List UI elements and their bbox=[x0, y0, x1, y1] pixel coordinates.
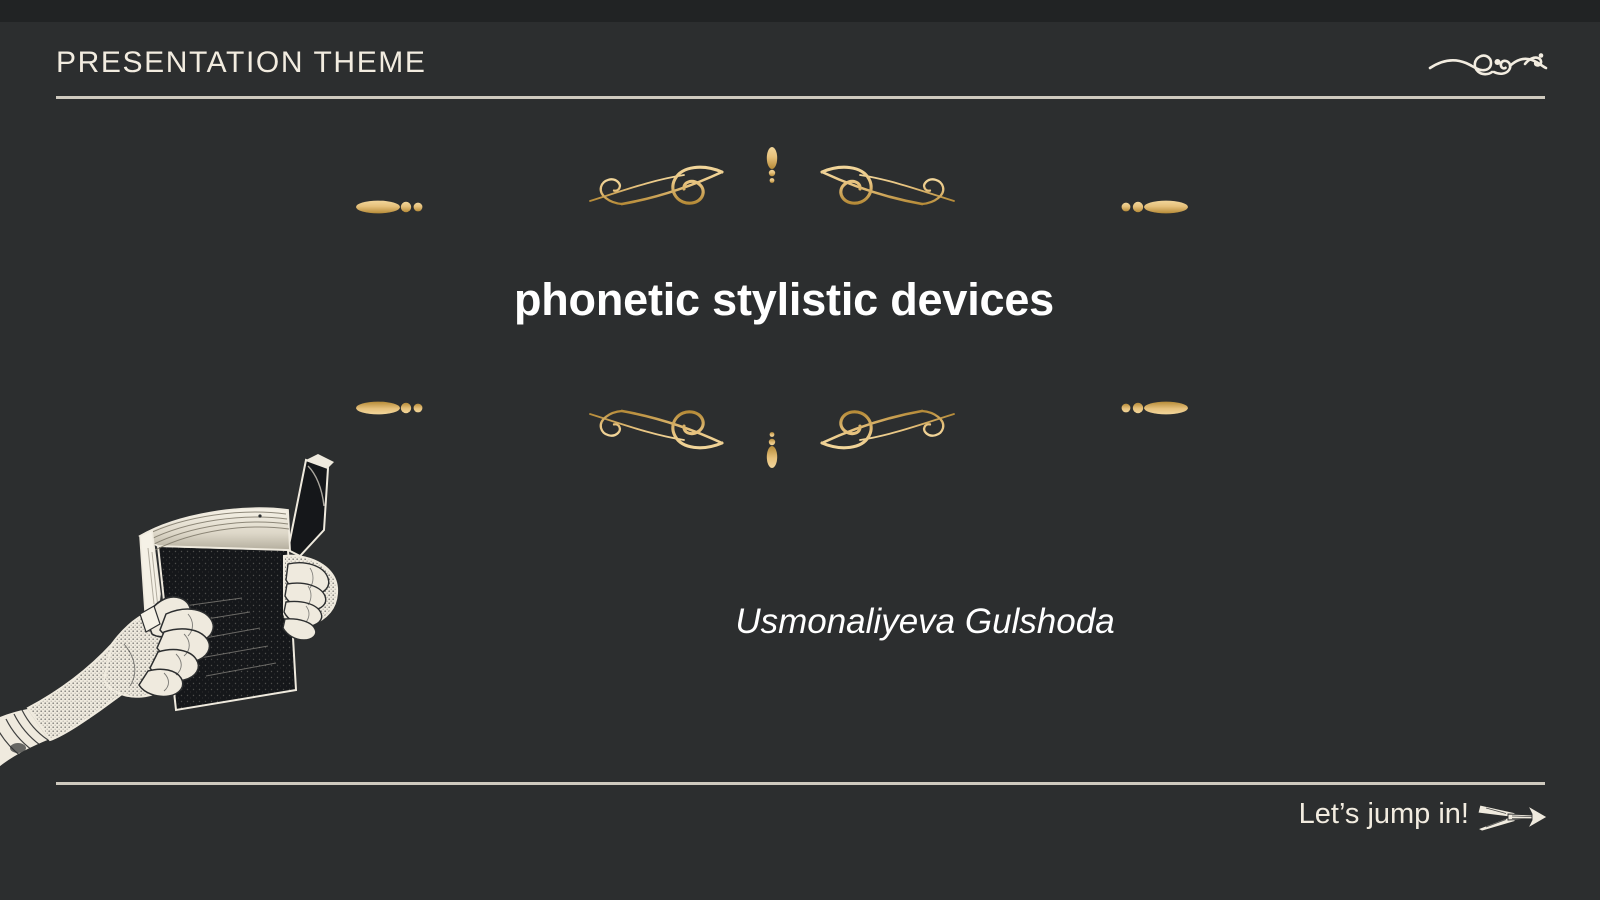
hands-holding-open-book-engraving bbox=[0, 418, 360, 782]
presentation-slide: PRESENTATION THEME bbox=[0, 0, 1600, 900]
swirl-flourish-icon bbox=[1428, 42, 1548, 86]
gold-filigree-divider-top bbox=[322, 145, 1222, 225]
gold-filigree-divider-bottom bbox=[322, 390, 1222, 470]
header-divider-rule bbox=[56, 96, 1545, 99]
vintage-arrow-right-icon[interactable] bbox=[1476, 796, 1548, 836]
footer-divider-rule bbox=[56, 782, 1545, 785]
page-title: PRESENTATION THEME bbox=[56, 46, 427, 80]
slide-main-title: phonetic stylistic devices bbox=[0, 274, 1568, 326]
footer-cta-label[interactable]: Let’s jump in! bbox=[1299, 798, 1469, 831]
letterbox-top-bar bbox=[0, 0, 1600, 22]
